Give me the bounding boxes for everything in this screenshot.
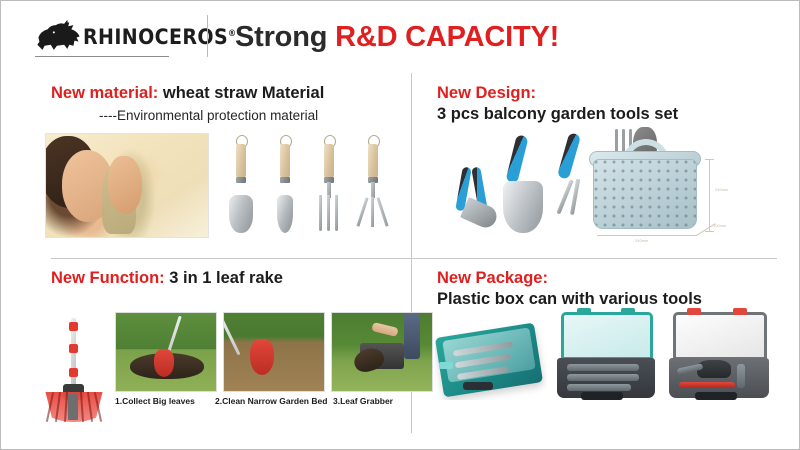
case-latch [577, 308, 591, 315]
case-handle-grip [695, 392, 737, 400]
blue-trowel-handle [505, 134, 528, 183]
case-latch [439, 362, 453, 369]
page-title: Strong R&D CAPACITY! [235, 21, 559, 54]
closed-teal-tool-case-photo [435, 308, 547, 400]
basket-body [593, 159, 697, 229]
case-latch [687, 308, 701, 315]
function-heading: New Function: 3 in 1 leaf rake [51, 268, 283, 289]
rake-pole-in-photo [223, 315, 240, 356]
material-heading: New material: wheat straw Material [51, 83, 324, 104]
title-plain-part: Strong [235, 21, 335, 53]
trowel-blade [229, 195, 253, 233]
cultivator-claw [376, 197, 388, 226]
material-heading-black: wheat straw Material [158, 84, 324, 102]
wood-transplanter-tool [267, 135, 303, 235]
cultivator-claw [371, 197, 374, 227]
dimension-tick [705, 231, 714, 232]
fork-tine [327, 195, 330, 231]
wood-handle [236, 144, 246, 178]
photo-caption-2: 2.Clean Narrow Garden Bed [215, 396, 327, 406]
open-grey-red-tool-case-photo [663, 304, 775, 402]
case-red-tool [679, 382, 735, 388]
wood-cultivator-tool [355, 135, 391, 235]
dimension-tick [705, 159, 714, 160]
transplanter-blade [277, 195, 293, 233]
quadrant-new-package: New Package: Plastic box can with variou… [429, 266, 789, 441]
wood-trowel-tool [223, 135, 259, 235]
case-tool-slot [567, 374, 639, 381]
function-heading-red: New Function: [51, 269, 165, 287]
cultivator-claw [356, 197, 368, 226]
wood-handle [280, 144, 290, 178]
rake-grip-band [69, 368, 78, 377]
person-leg [404, 313, 420, 359]
dimension-label-depth: 100mm [713, 223, 726, 228]
design-heading-black: 3 pcs balcony garden tools set [437, 104, 678, 125]
ferrule [236, 177, 246, 183]
wood-fork-tool [311, 135, 347, 235]
rhinoceros-logo-icon [33, 19, 85, 53]
pruner-tool [459, 167, 495, 213]
brand-wordmark: RHINOCEROS® [83, 25, 236, 50]
blue-cultivator-handle [557, 132, 581, 180]
quadrant-new-design: New Design: 3 pcs balcony garden tools s… [429, 81, 789, 256]
photo-caption-3: 3.Leaf Grabber [333, 396, 393, 406]
quadrant-new-function: New Function: 3 in 1 leaf rake [33, 266, 405, 441]
person-arm [371, 322, 398, 337]
red-rake-head [154, 349, 174, 377]
case-tool-slot [567, 364, 639, 371]
rake-center-blade [68, 394, 78, 420]
blue-trowel-blade [503, 181, 543, 233]
open-teal-tool-case-photo [551, 304, 659, 402]
wood-handle [368, 144, 378, 178]
material-subtitle: ----Environmental protection material [99, 107, 318, 125]
fork-tine [335, 195, 338, 231]
photo-caption-1: 1.Collect Big leaves [115, 396, 195, 406]
case-handle-grip [463, 382, 493, 390]
ferrule [280, 177, 290, 183]
wood-handle [324, 144, 334, 178]
case-handle-grip [581, 392, 623, 400]
four-wooden-handle-garden-tools-photo [219, 129, 399, 239]
horizontal-divider [51, 258, 777, 259]
tool-shaft [371, 182, 375, 198]
slide-header: RHINOCEROS® Strong R&D CAPACITY! [1, 1, 800, 69]
design-heading-red: New Design: [437, 83, 536, 104]
material-heading-red: New material: [51, 84, 158, 102]
case-lid [673, 312, 767, 360]
slide-canvas: RHINOCEROS® Strong R&D CAPACITY! New mat… [0, 0, 800, 450]
photo-hand-shape [108, 156, 142, 214]
plastic-caddy-basket-photo: 240mm 240mm 100mm [581, 125, 761, 247]
collect-big-leaves-photo [115, 312, 217, 392]
rake-grip-band [69, 344, 78, 353]
function-heading-black: 3 in 1 leaf rake [165, 269, 283, 287]
red-rake-head [250, 339, 274, 375]
fork-tine [319, 195, 322, 231]
clean-narrow-garden-bed-photo [223, 312, 325, 392]
case-latch [733, 308, 747, 315]
case-tool-slot [737, 364, 745, 388]
dimension-label-height: 240mm [715, 187, 728, 192]
case-tool-slot [567, 384, 631, 391]
rake-grip-band [69, 322, 78, 331]
package-heading-red: New Package: [437, 268, 548, 289]
dimension-line-width [597, 235, 697, 236]
logo-underline [35, 56, 169, 57]
header-vertical-divider [207, 15, 208, 57]
pruner-blade [460, 197, 500, 231]
leaf-grabber-photo [331, 312, 433, 392]
case-latch [621, 308, 635, 315]
red-leaf-rake-product-photo [41, 314, 109, 426]
case-lid [561, 312, 653, 360]
title-accent-part: R&D CAPACITY! [335, 21, 559, 53]
woman-smelling-wheat-straw-photo [45, 133, 209, 238]
brand-logo: RHINOCEROS® [33, 17, 193, 59]
dimension-line-height [709, 159, 710, 231]
quadrant-new-material: New material: wheat straw Material ----E… [33, 81, 405, 256]
dimension-label-width: 240mm [635, 238, 648, 243]
